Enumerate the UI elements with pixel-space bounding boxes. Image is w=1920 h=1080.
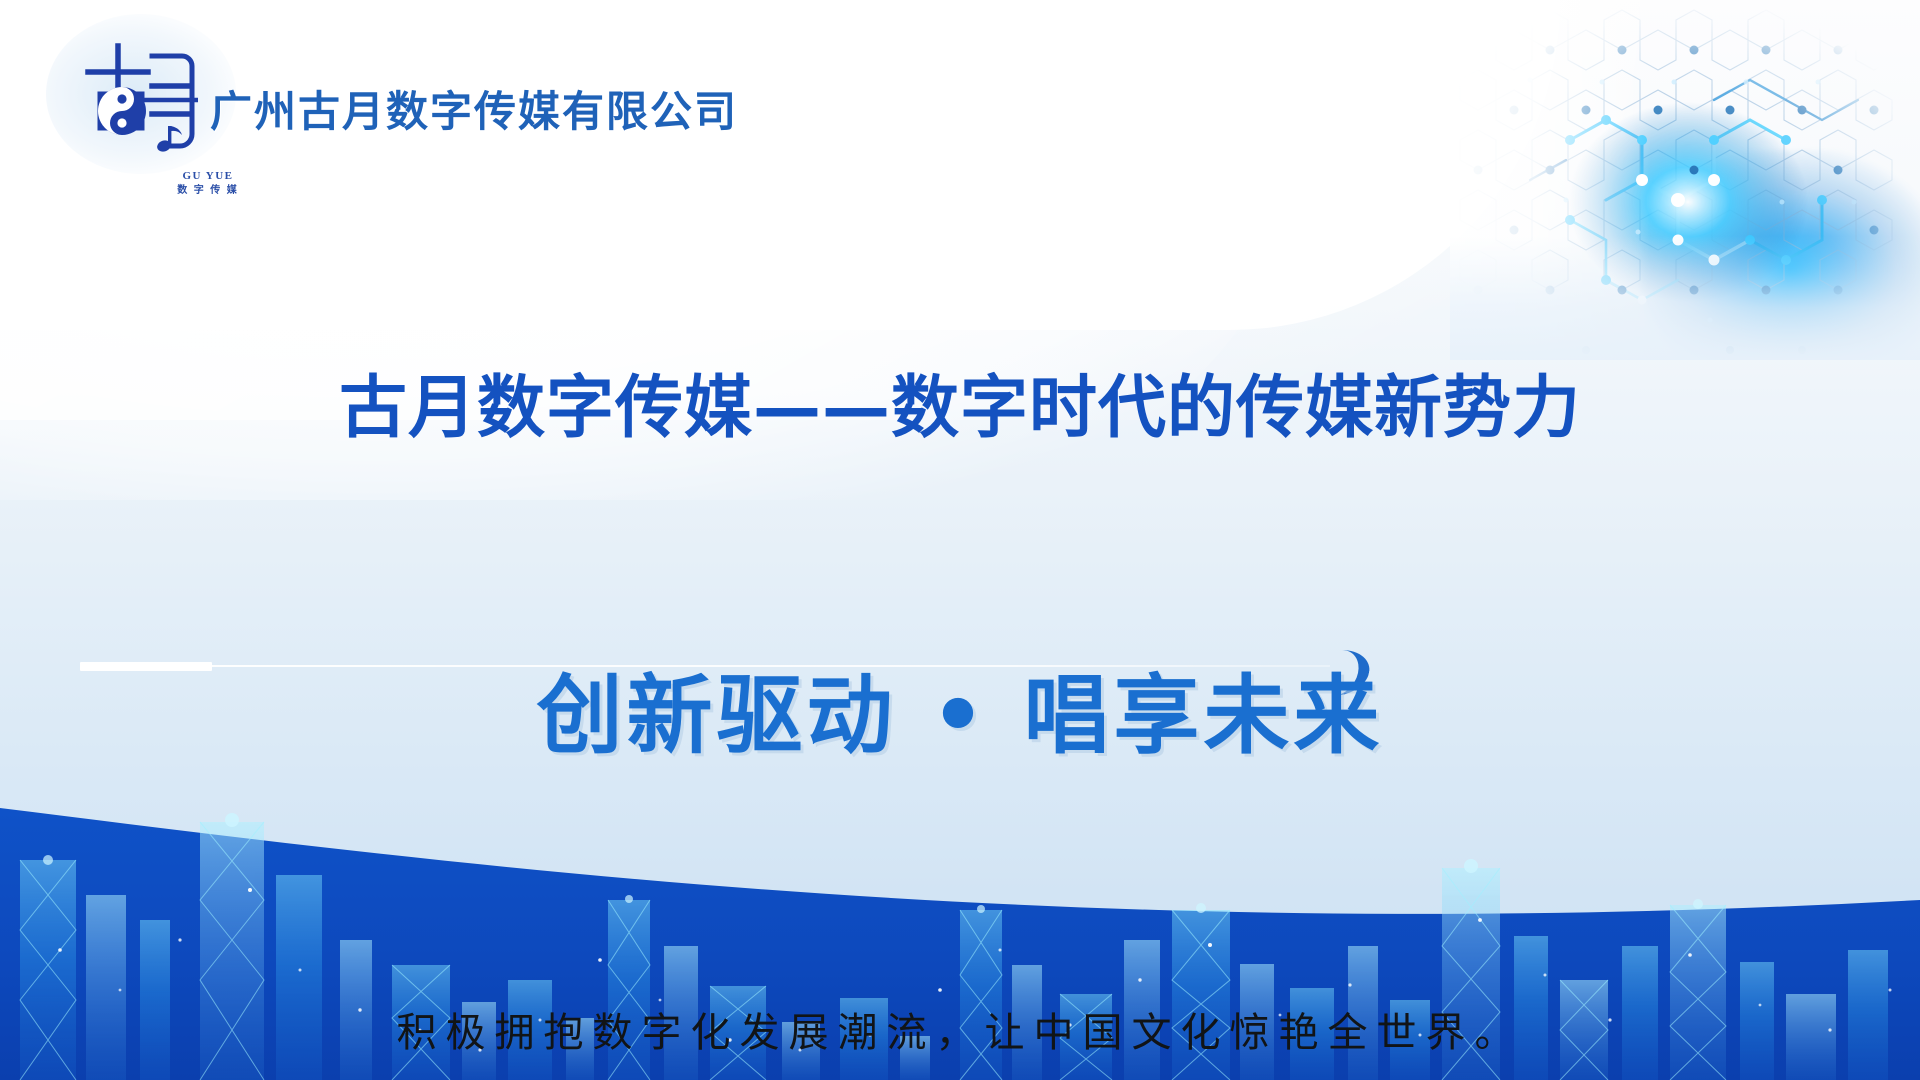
- hex-bottom-fade: [1450, 236, 1920, 360]
- music-note-icon: [156, 126, 182, 153]
- digital-city-skyline: 积极拥抱数字化发展潮流，让中国文化惊艳全世界。: [0, 750, 1920, 1080]
- logo-chinese-text: 数 字 传 媒: [148, 184, 268, 197]
- logo-subtext: GU YUE 数 字 传 媒: [148, 170, 268, 197]
- logo-mark-icon: [78, 34, 198, 156]
- main-title: 古月数字传媒——数字时代的传媒新势力: [0, 352, 1920, 451]
- hex-glow: [1640, 150, 1920, 360]
- slide-header: GU YUE 数 字 传 媒 广州古月数字传媒有限公司: [0, 0, 1920, 180]
- footer-tagline: 积极拥抱数字化发展潮流，让中国文化惊艳全世界。: [0, 1000, 1920, 1058]
- logo-latin-text: GU YUE: [182, 170, 233, 182]
- presentation-slide: GU YUE 数 字 传 媒 广州古月数字传媒有限公司 古月数字传媒——数字时代…: [0, 0, 1920, 1080]
- company-name: 广州古月数字传媒有限公司: [210, 78, 738, 139]
- guyue-logo[interactable]: GU YUE 数 字 传 媒: [78, 34, 198, 156]
- yinyang-icon: [98, 87, 146, 135]
